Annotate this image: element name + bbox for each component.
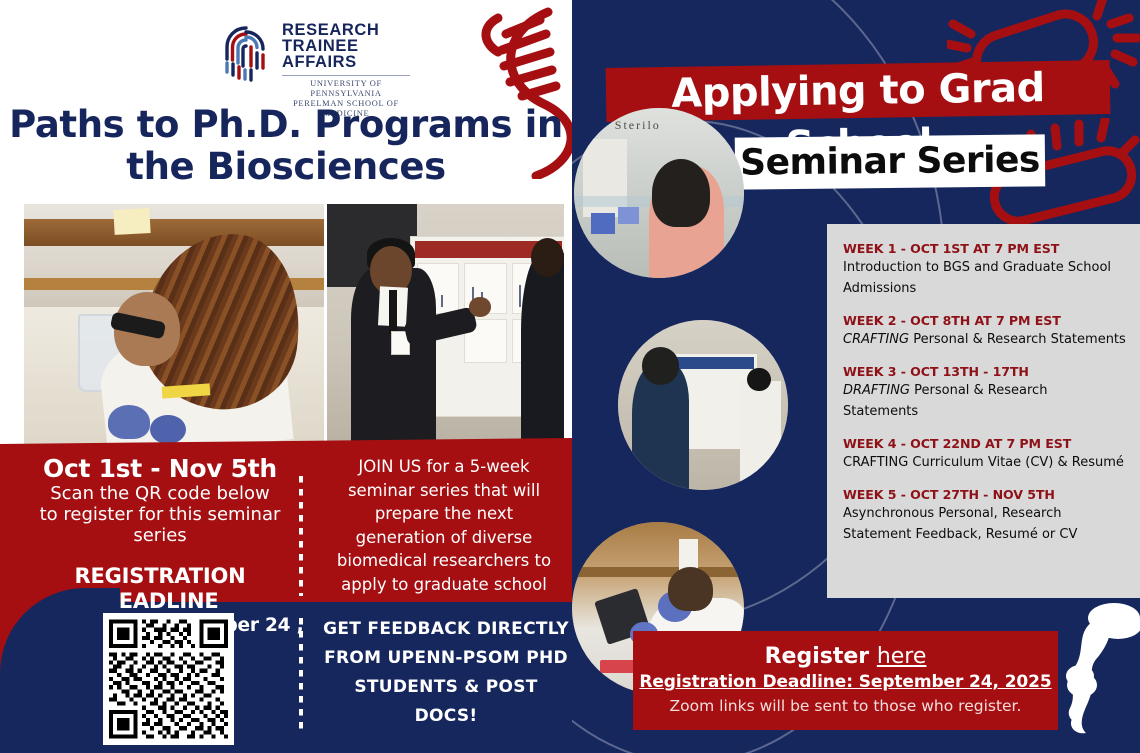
schedule-week-1: WEEK 1 - OCT 1ST AT 7 PM EST Introductio… xyxy=(843,240,1126,299)
dotted-divider-bottom xyxy=(299,618,303,730)
register-deadline: Registration Deadline: September 24, 202… xyxy=(633,670,1058,695)
navy-rounded-corner xyxy=(0,588,120,753)
register-link[interactable]: here xyxy=(877,644,927,669)
week-title: WEEK 4 - OCT 22ND AT 7 PM EST xyxy=(843,435,1126,452)
week-title: WEEK 5 - OCT 27TH - NOV 5TH xyxy=(843,486,1126,503)
photo-poster-session-presenter xyxy=(327,204,564,449)
subhead-banner-text: Seminar Series xyxy=(735,134,1046,189)
register-heading: Register here xyxy=(633,631,1058,670)
organization-logo: RESEARCH TRAINEE AFFAIRS UNIVERSITY OF P… xyxy=(218,16,418,98)
feedback-callout: GET FEEDBACK DIRECTLY FROM UPENN-PSOM PH… xyxy=(320,615,572,731)
logo-line-3: AFFAIRS xyxy=(282,54,410,70)
scan-line-1: Scan the QR code below xyxy=(14,483,306,504)
registration-red-band: Oct 1st - Nov 5th Scan the QR code below… xyxy=(0,447,572,602)
week-title: WEEK 1 - OCT 1ST AT 7 PM EST xyxy=(843,240,1126,257)
week-title: WEEK 3 - OCT 13TH - 17TH xyxy=(843,363,1126,380)
logo-line-2: TRAINEE xyxy=(282,38,410,54)
scan-line-2: to register for this seminar series xyxy=(14,504,306,546)
week-description: DRAFTING Personal & Research Statements xyxy=(843,380,1126,422)
page-title: Paths to Ph.D. Programs in the Bioscienc… xyxy=(0,104,572,188)
schedule-week-3: WEEK 3 - OCT 13TH - 17TH DRAFTING Person… xyxy=(843,363,1126,422)
week-description: Introduction to BGS and Graduate School … xyxy=(843,257,1126,299)
week-emphasis: DRAFTING xyxy=(843,383,910,398)
sperm-icon xyxy=(1058,585,1140,753)
photo-student-at-lab-bench xyxy=(24,204,324,449)
photo-students-at-research-poster xyxy=(618,320,788,490)
join-us-text: JOIN US for a 5-week seminar series that… xyxy=(330,455,558,596)
fingerprint-icon xyxy=(218,22,274,82)
schedule-week-4: WEEK 4 - OCT 22ND AT 7 PM EST CRAFTING C… xyxy=(843,435,1126,473)
week-description: CRAFTING Curriculum Vitae (CV) & Resumé xyxy=(843,452,1126,473)
register-label: Register xyxy=(765,644,870,669)
schedule-week-2: WEEK 2 - OCT 8TH AT 7 PM EST CRAFTING Pe… xyxy=(843,312,1126,350)
week-title: WEEK 2 - OCT 8TH AT 7 PM EST xyxy=(843,312,1126,329)
seminar-dates: Oct 1st - Nov 5th xyxy=(14,455,306,483)
poster-canvas: RESEARCH TRAINEE AFFAIRS UNIVERSITY OF P… xyxy=(0,0,1140,753)
week-description-rest: Personal & Research Statements xyxy=(909,332,1126,347)
seminar-schedule-box: WEEK 1 - OCT 1ST AT 7 PM EST Introductio… xyxy=(827,224,1140,598)
photo-row xyxy=(24,204,564,449)
week-emphasis: CRAFTING xyxy=(843,332,909,347)
photo-researcher-at-biosafety-hood: Sterilo xyxy=(574,108,744,278)
dotted-divider-top xyxy=(299,476,303,596)
subhead-banner: Seminar Series xyxy=(735,134,1046,189)
left-column: RESEARCH TRAINEE AFFAIRS UNIVERSITY OF P… xyxy=(0,0,572,753)
logo-divider xyxy=(282,75,410,76)
schedule-week-5: WEEK 5 - OCT 27TH - NOV 5TH Asynchronous… xyxy=(843,486,1126,545)
qr-code[interactable] xyxy=(103,613,234,745)
week-description: Asynchronous Personal, Research Statemen… xyxy=(843,503,1126,545)
week-description: CRAFTING Personal & Research Statements xyxy=(843,329,1126,350)
qr-code-image xyxy=(109,619,228,739)
register-note: Zoom links will be sent to those who reg… xyxy=(633,695,1058,717)
register-box: Register here Registration Deadline: Sep… xyxy=(633,631,1058,730)
logo-university: UNIVERSITY OF PENNSYLVANIA xyxy=(282,79,410,99)
logo-line-1: RESEARCH xyxy=(282,22,410,38)
